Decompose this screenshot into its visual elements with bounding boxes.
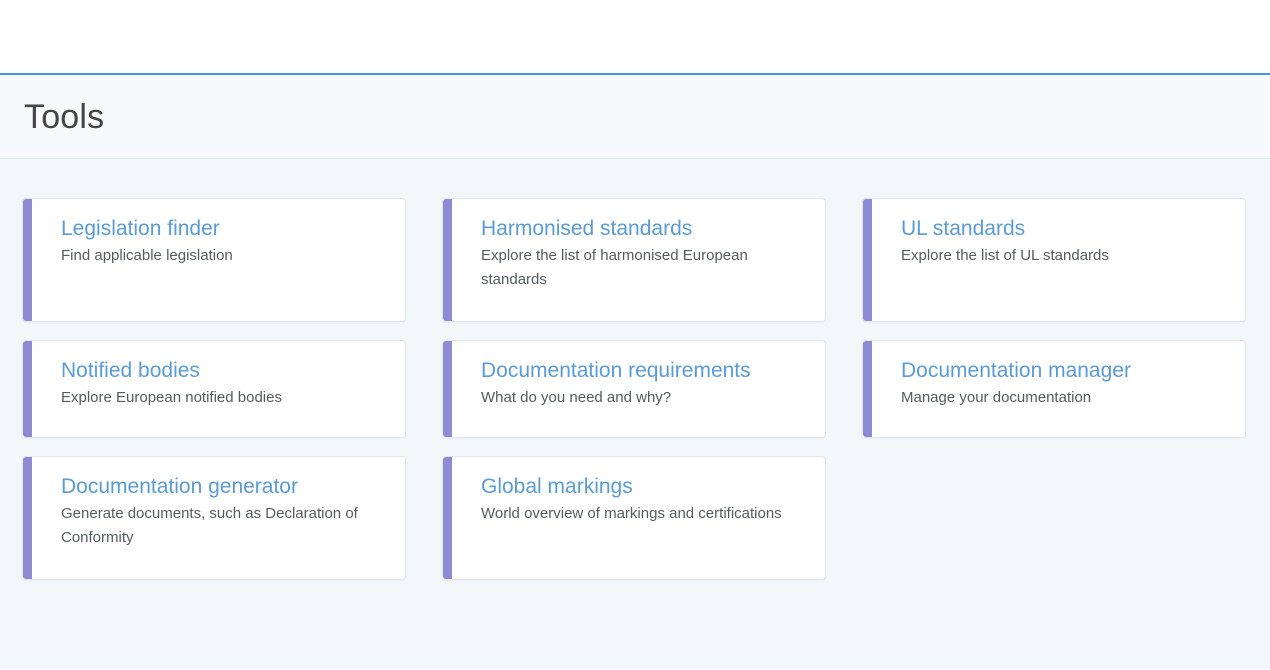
tool-description: Generate documents, such as Declaration …	[61, 502, 389, 549]
tool-card-documentation-generator[interactable]: Documentation generator Generate documen…	[22, 456, 406, 580]
card-accent-bar-icon	[23, 199, 32, 321]
tool-title-link[interactable]: Notified bodies	[61, 358, 389, 384]
card-accent-bar-icon	[863, 199, 872, 321]
tool-description: What do you need and why?	[481, 386, 809, 410]
tool-card-notified-bodies[interactable]: Notified bodies Explore European notifie…	[22, 340, 406, 438]
tool-title-link[interactable]: Documentation generator	[61, 474, 389, 500]
tool-card-global-markings[interactable]: Global markings World overview of markin…	[442, 456, 826, 580]
card-accent-bar-icon	[443, 457, 452, 579]
card-accent-bar-icon	[863, 341, 872, 437]
tool-description: World overview of markings and certifica…	[481, 502, 809, 526]
card-accent-bar-icon	[443, 341, 452, 437]
tools-content: Legislation finder Find applicable legis…	[0, 159, 1270, 669]
page-title: Tools	[24, 100, 104, 134]
tool-title-link[interactable]: Documentation manager	[901, 358, 1229, 384]
tools-grid: Legislation finder Find applicable legis…	[22, 198, 1248, 580]
tool-description: Explore European notified bodies	[61, 386, 389, 410]
card-accent-bar-icon	[23, 341, 32, 437]
tool-card-ul-standards[interactable]: UL standards Explore the list of UL stan…	[862, 198, 1246, 322]
card-accent-bar-icon	[443, 199, 452, 321]
tool-description: Find applicable legislation	[61, 244, 389, 268]
tool-card-legislation-finder[interactable]: Legislation finder Find applicable legis…	[22, 198, 406, 322]
tool-card-documentation-requirements[interactable]: Documentation requirements What do you n…	[442, 340, 826, 438]
tool-card-harmonised-standards[interactable]: Harmonised standards Explore the list of…	[442, 198, 826, 322]
tool-title-link[interactable]: Global markings	[481, 474, 809, 500]
tool-card-documentation-manager[interactable]: Documentation manager Manage your docume…	[862, 340, 1246, 438]
card-accent-bar-icon	[23, 457, 32, 579]
tool-title-link[interactable]: Harmonised standards	[481, 216, 809, 242]
tool-title-link[interactable]: UL standards	[901, 216, 1229, 242]
tool-description: Explore the list of UL standards	[901, 244, 1229, 268]
tool-title-link[interactable]: Documentation requirements	[481, 358, 809, 384]
tool-description: Explore the list of harmonised European …	[481, 244, 809, 291]
tool-description: Manage your documentation	[901, 386, 1229, 410]
top-bar	[0, 0, 1270, 73]
page-header: Tools	[0, 75, 1270, 159]
tool-title-link[interactable]: Legislation finder	[61, 216, 389, 242]
